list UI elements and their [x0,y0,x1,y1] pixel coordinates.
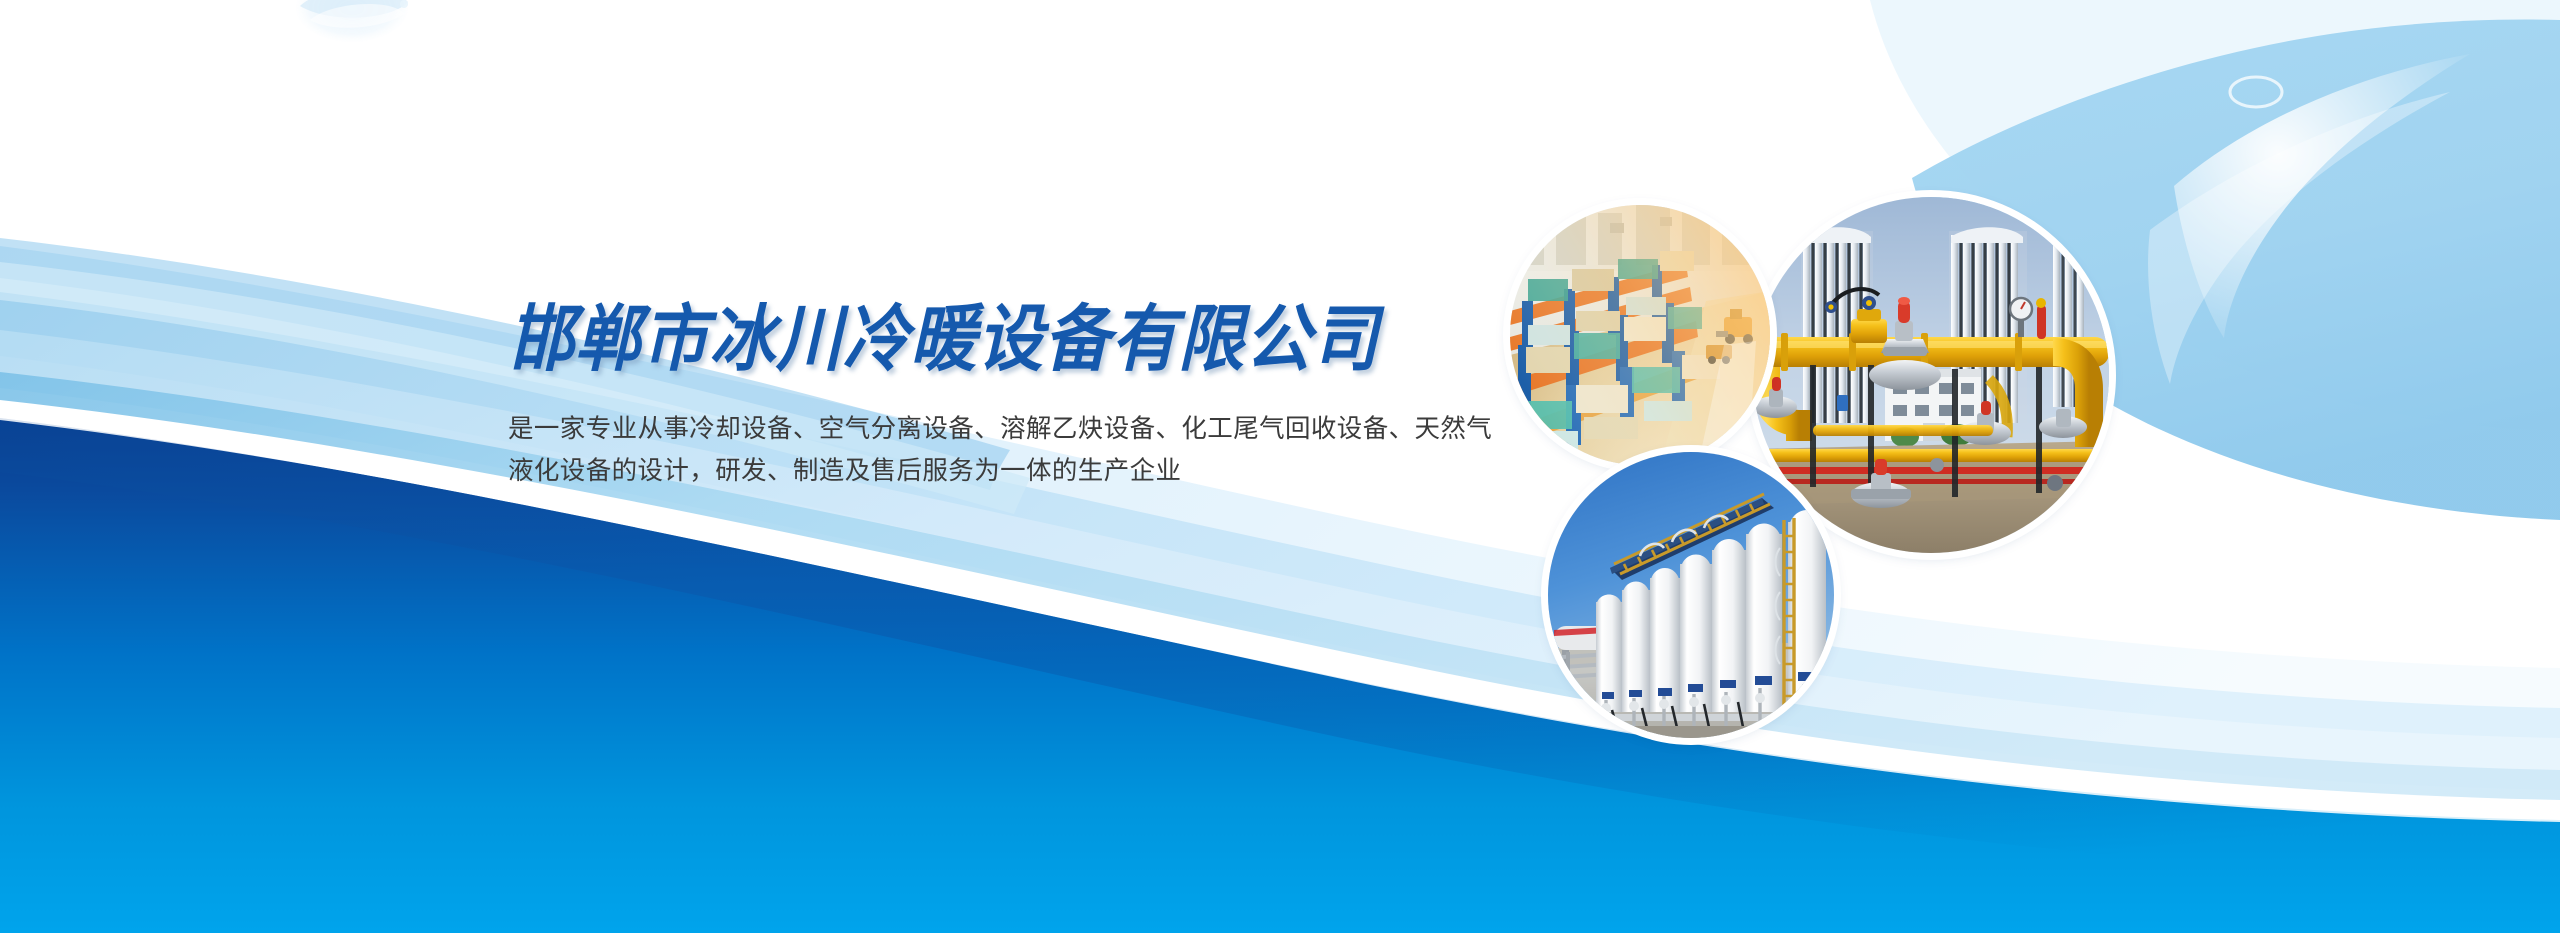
cryogenic-tanks-illustration [1548,452,1834,738]
company-description-line-1: 是一家专业从事冷却设备、空气分离设备、溶解乙炔设备、化工尾气回收设备、天然气 [508,409,1298,450]
photo-cryogenic-storage-tanks [1548,452,1834,738]
warehouse-illustration [1510,205,1770,465]
company-hero-banner: 邯郸市冰川冷暖设备有限公司 是一家专业从事冷却设备、空气分离设备、溶解乙炔设备、… [0,0,2560,933]
company-title: 邯郸市冰川冷暖设备有限公司 [508,300,1508,378]
hero-text-block: 邯郸市冰川冷暖设备有限公司 是一家专业从事冷却设备、空气分离设备、溶解乙炔设备、… [508,300,1508,492]
company-description-line-2: 液化设备的设计，研发、制造及售后服务为一体的生产企业 [508,451,1298,492]
company-description: 是一家专业从事冷却设备、空气分离设备、溶解乙炔设备、化工尾气回收设备、天然气 液… [508,371,1298,492]
photo-warehouse-storage-racks [1510,205,1770,465]
